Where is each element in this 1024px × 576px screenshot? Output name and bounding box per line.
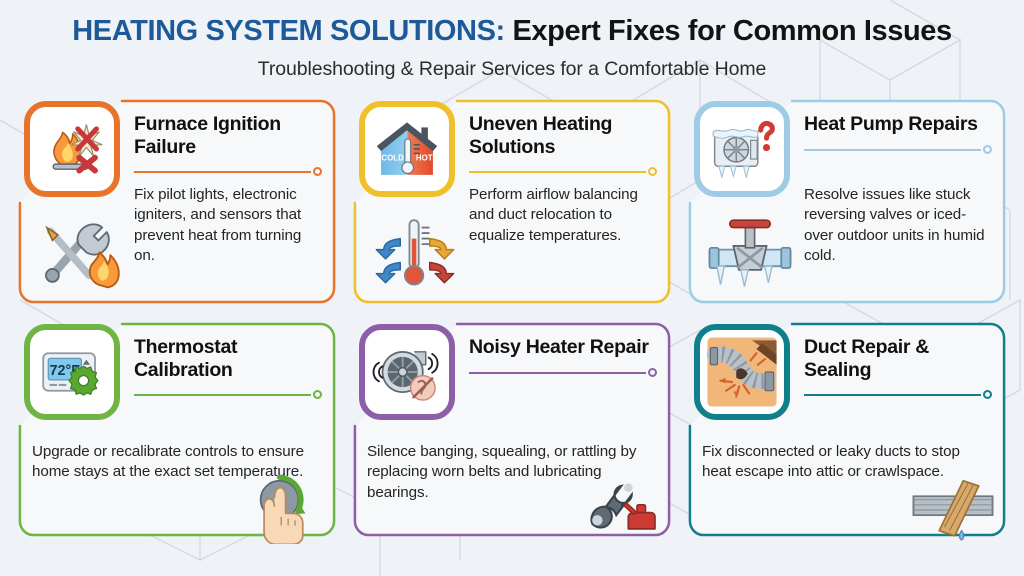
solution-card-duct-repair-and-sealing[interactable]: Duct Repair & Sealing Fix disconnected o… (688, 322, 1006, 537)
card-divider (804, 390, 992, 400)
card-divider (134, 390, 322, 400)
card-head: Noisy Heater Repair (469, 336, 657, 378)
blower-fan-mute-icon (359, 324, 455, 420)
svg-text:COLD: COLD (381, 153, 404, 162)
card-divider (804, 145, 992, 155)
card-title: Thermostat Calibration (134, 336, 322, 381)
card-divider (469, 368, 657, 378)
card-title: Uneven Heating Solutions (469, 113, 657, 158)
page-subtitle: Troubleshooting & Repair Services for a … (0, 58, 1024, 81)
card-body: Silence banging, squealing, or rattling … (367, 442, 657, 503)
svg-text:HOT: HOT (416, 153, 433, 162)
card-body: Fix pilot lights, electronic igniters, a… (134, 185, 324, 266)
solution-card-uneven-heating-solutions[interactable]: COLD HOT Uneven Heating Solutions Perfor… (353, 99, 671, 304)
divider-knob-icon (648, 368, 657, 377)
solution-card-thermostat-calibration[interactable]: 72°F Thermostat Calibration Upg (18, 322, 336, 537)
card-head: Duct Repair & Sealing (804, 336, 992, 400)
solution-card-furnace-ignition-failure[interactable]: Furnace Ignition Failure Fix pilot light… (18, 99, 336, 304)
card-head: Thermostat Calibration (134, 336, 322, 400)
card-title: Furnace Ignition Failure (134, 113, 322, 158)
page-title-rest: Expert Fixes for Common Issues (512, 15, 951, 47)
card-head: Heat Pump Repairs (804, 113, 992, 155)
divider-knob-icon (983, 390, 992, 399)
solutions-grid: Furnace Ignition Failure Fix pilot light… (0, 81, 1024, 537)
card-body: Perform airflow balancing and duct reloc… (469, 185, 659, 246)
card-body: Upgrade or recalibrate controls to ensur… (32, 442, 322, 483)
card-head: Uneven Heating Solutions (469, 113, 657, 177)
page-title-highlight: HEATING SYSTEM SOLUTIONS: (72, 15, 505, 47)
card-divider (134, 167, 322, 177)
divider-knob-icon (648, 167, 657, 176)
card-body: Resolve issues like stuck reversing valv… (804, 185, 994, 266)
divider-knob-icon (313, 390, 322, 399)
house-cold-hot-thermometer-icon: COLD HOT (359, 101, 455, 197)
flame-with-x-icon (24, 101, 120, 197)
divider-knob-icon (983, 145, 992, 154)
card-title: Noisy Heater Repair (469, 336, 657, 359)
iced-condenser-question-icon (694, 101, 790, 197)
card-divider (469, 167, 657, 177)
card-head: Furnace Ignition Failure (134, 113, 322, 177)
card-body: Fix disconnected or leaky ducts to stop … (702, 442, 992, 483)
infographic-header: HEATING SYSTEM SOLUTIONS: Expert Fixes f… (0, 0, 1024, 81)
solution-card-heat-pump-repairs[interactable]: Heat Pump Repairs Resolve issues like st… (688, 99, 1006, 304)
solution-card-noisy-heater-repair[interactable]: Noisy Heater Repair Silence banging, squ… (353, 322, 671, 537)
card-title: Heat Pump Repairs (804, 113, 992, 136)
page-title: HEATING SYSTEM SOLUTIONS: Expert Fixes f… (0, 16, 1024, 48)
thermostat-gear-icon: 72°F (24, 324, 120, 420)
card-title: Duct Repair & Sealing (804, 336, 992, 381)
torn-flex-duct-icon (694, 324, 790, 420)
divider-knob-icon (313, 167, 322, 176)
